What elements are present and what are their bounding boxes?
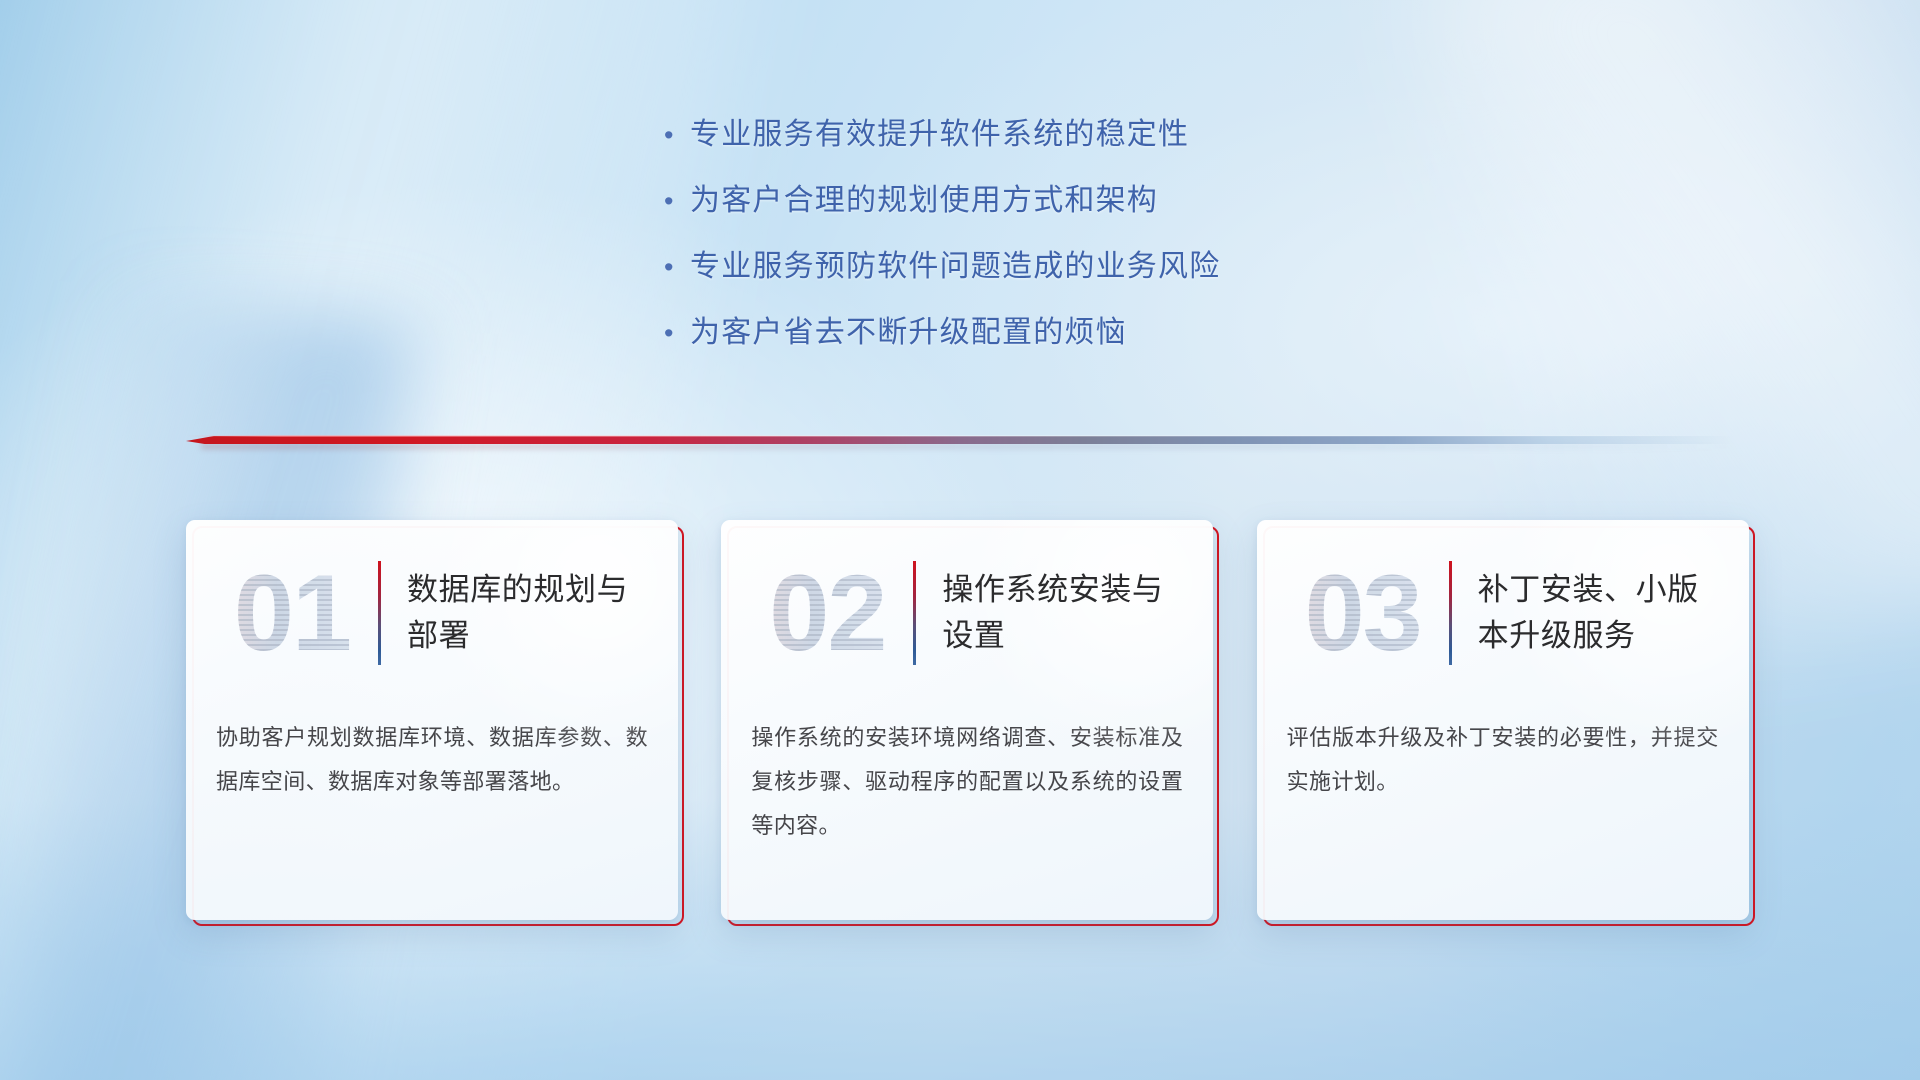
card-body: 协助客户规划数据库环境、数据库参数、数据库空间、数据库对象等部署落地。 [186,706,678,804]
bullet-item-2: • 为客户合理的规划使用方式和架构 [664,180,1424,246]
bullet-item-2-label: 为客户合理的规划使用方式和架构 [690,180,1158,222]
card-surface: 02 操作系统安装与设置 操作系统的安装环境网络调查、安装标准及复核步骤、驱动程… [721,520,1213,920]
service-card-row: 01 数据库的规划与部署 协助客户规划数据库环境、数据库参数、数据库空间、数据库… [186,520,1734,920]
card-header: 01 数据库的规划与部署 [186,520,678,706]
service-card-01[interactable]: 01 数据库的规划与部署 协助客户规划数据库环境、数据库参数、数据库空间、数据库… [186,520,663,920]
service-card-03[interactable]: 03 补丁安装、小版本升级服务 评估版本升级及补丁安装的必要性，并提交实施计划。 [1257,520,1734,920]
card-header: 03 补丁安装、小版本升级服务 [1257,520,1749,706]
section-divider-bar [186,433,1734,449]
bullet-item-4-label: 为客户省去不断升级配置的烦恼 [690,312,1127,354]
card-body: 评估版本升级及补丁安装的必要性，并提交实施计划。 [1257,706,1749,804]
card-header-divider-icon [913,561,916,665]
bullet-dot-icon: • [664,114,690,156]
card-header: 02 操作系统安装与设置 [721,520,1213,706]
bullet-item-1: • 专业服务有效提升软件系统的稳定性 [664,114,1424,180]
card-body-text: 操作系统的安装环境网络调查、安装标准及复核步骤、驱动程序的配置以及系统的设置等内… [751,716,1183,848]
bullet-item-4: • 为客户省去不断升级配置的烦恼 [664,312,1424,378]
card-number-watermark: 01 [212,559,372,667]
service-card-02[interactable]: 02 操作系统安装与设置 操作系统的安装环境网络调查、安装标准及复核步骤、驱动程… [721,520,1198,920]
card-title: 补丁安装、小版本升级服务 [1478,567,1728,659]
card-number-watermark: 02 [747,559,907,667]
bullet-item-3: • 专业服务预防软件问题造成的业务风险 [664,246,1424,312]
divider-highlight [186,435,1734,437]
card-body-text: 评估版本升级及补丁安装的必要性，并提交实施计划。 [1287,716,1719,804]
bullet-dot-icon: • [664,180,690,222]
card-number-watermark: 03 [1283,559,1443,667]
card-body: 操作系统的安装环境网络调查、安装标准及复核步骤、驱动程序的配置以及系统的设置等内… [721,706,1213,848]
divider-drop-shadow [201,444,1734,449]
card-header-divider-icon [1449,561,1452,665]
card-header-divider-icon [378,561,381,665]
benefits-bullet-list: • 专业服务有效提升软件系统的稳定性 • 为客户合理的规划使用方式和架构 • 专… [664,114,1424,378]
card-surface: 03 补丁安装、小版本升级服务 评估版本升级及补丁安装的必要性，并提交实施计划。 [1257,520,1749,920]
bullet-item-3-label: 专业服务预防软件问题造成的业务风险 [690,246,1220,288]
card-title: 操作系统安装与设置 [942,567,1192,659]
bullet-item-1-label: 专业服务有效提升软件系统的稳定性 [690,114,1189,156]
bullet-dot-icon: • [664,312,690,354]
divider-gradient-fill [186,436,1734,444]
slide-canvas: • 专业服务有效提升软件系统的稳定性 • 为客户合理的规划使用方式和架构 • 专… [0,0,1920,1080]
card-body-text: 协助客户规划数据库环境、数据库参数、数据库空间、数据库对象等部署落地。 [216,716,648,804]
card-title: 数据库的规划与部署 [407,567,657,659]
card-surface: 01 数据库的规划与部署 协助客户规划数据库环境、数据库参数、数据库空间、数据库… [186,520,678,920]
bullet-dot-icon: • [664,246,690,288]
